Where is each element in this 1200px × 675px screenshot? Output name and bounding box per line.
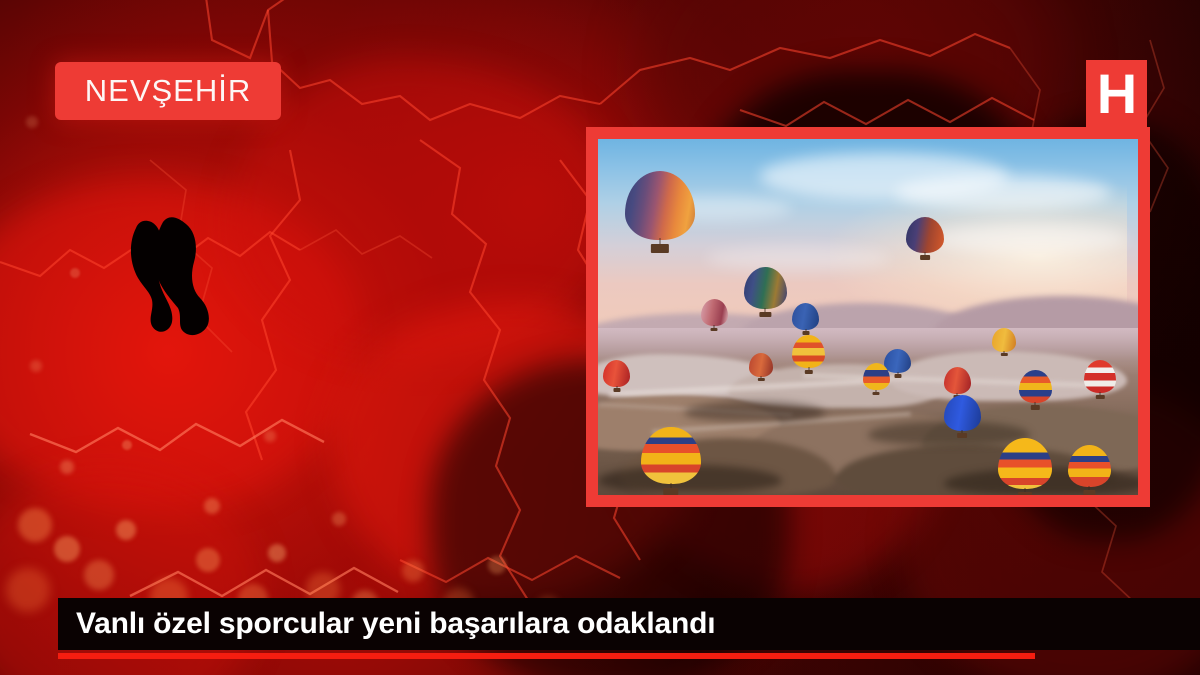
balloon: [641, 427, 700, 495]
balloon: [603, 360, 630, 392]
caption-bar: Vanlı özel sporcular yeni başarılara oda…: [58, 598, 1200, 650]
caption-underline: [58, 653, 1035, 659]
cappadocia-photo: [598, 139, 1138, 495]
balloon: [998, 438, 1052, 495]
balloon: [792, 303, 819, 335]
brand-logo-letter: H: [1097, 66, 1136, 122]
balloon: [992, 328, 1016, 356]
balloon: [863, 363, 890, 395]
balloon: [749, 353, 773, 381]
balloon: [701, 299, 728, 331]
balloon: [944, 395, 982, 438]
balloon: [1068, 445, 1111, 495]
balloon: [792, 335, 824, 374]
balloon: [944, 367, 971, 399]
balloon: [1084, 360, 1116, 399]
news-card: NEVŞEHİR: [0, 0, 1200, 675]
city-badge-label: NEVŞEHİR: [85, 73, 251, 109]
balloon: [1019, 370, 1051, 409]
headline-text: Vanlı özel sporcular yeni başarılara oda…: [58, 607, 715, 641]
balloon: [625, 171, 695, 253]
photo-frame[interactable]: [586, 127, 1150, 507]
balloon: [744, 267, 787, 317]
brand-logo[interactable]: H: [1086, 60, 1147, 128]
city-badge[interactable]: NEVŞEHİR: [55, 62, 281, 120]
balloon: [906, 217, 944, 260]
